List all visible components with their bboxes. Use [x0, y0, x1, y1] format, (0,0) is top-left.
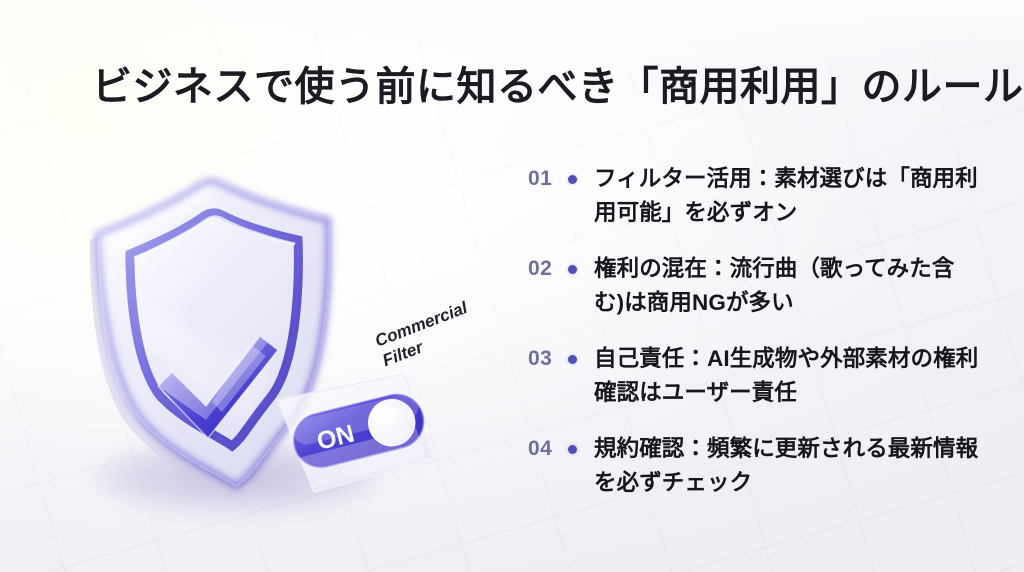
rule-number: 01 — [528, 162, 568, 196]
bullet-dot-icon — [568, 252, 594, 286]
rules-list: 01 フィルター活用：素材選びは「商用利用可能」を必ずオン 02 権利の混在：流… — [528, 162, 980, 500]
rule-text: 規約確認：頻繁に更新される最新情報を必ずチェック — [594, 432, 980, 500]
bullet-dot-icon — [568, 342, 594, 376]
list-item: 03 自己責任：AI生成物や外部素材の権利確認はユーザー責任 — [528, 342, 980, 410]
rule-number: 02 — [528, 252, 568, 286]
rule-text: フィルター活用：素材選びは「商用利用可能」を必ずオン — [594, 162, 980, 230]
rule-text: 権利の混在：流行曲（歌ってみた含む)は商用NGが多い — [594, 252, 980, 320]
list-item: 01 フィルター活用：素材選びは「商用利用可能」を必ずオン — [528, 162, 980, 230]
slide-canvas: ビジネスで使う前に知るべき「商用利用」のルール — [0, 0, 1024, 572]
list-item: 04 規約確認：頻繁に更新される最新情報を必ずチェック — [528, 432, 980, 500]
rule-text: 自己責任：AI生成物や外部素材の権利確認はユーザー責任 — [594, 342, 980, 410]
rule-number: 04 — [528, 432, 568, 466]
page-title: ビジネスで使う前に知るべき「商用利用」のルール — [92, 54, 1024, 112]
rule-number: 03 — [528, 342, 568, 376]
bullet-dot-icon — [568, 162, 594, 196]
list-item: 02 権利の混在：流行曲（歌ってみた含む)は商用NGが多い — [528, 252, 980, 320]
bullet-dot-icon — [568, 432, 594, 466]
